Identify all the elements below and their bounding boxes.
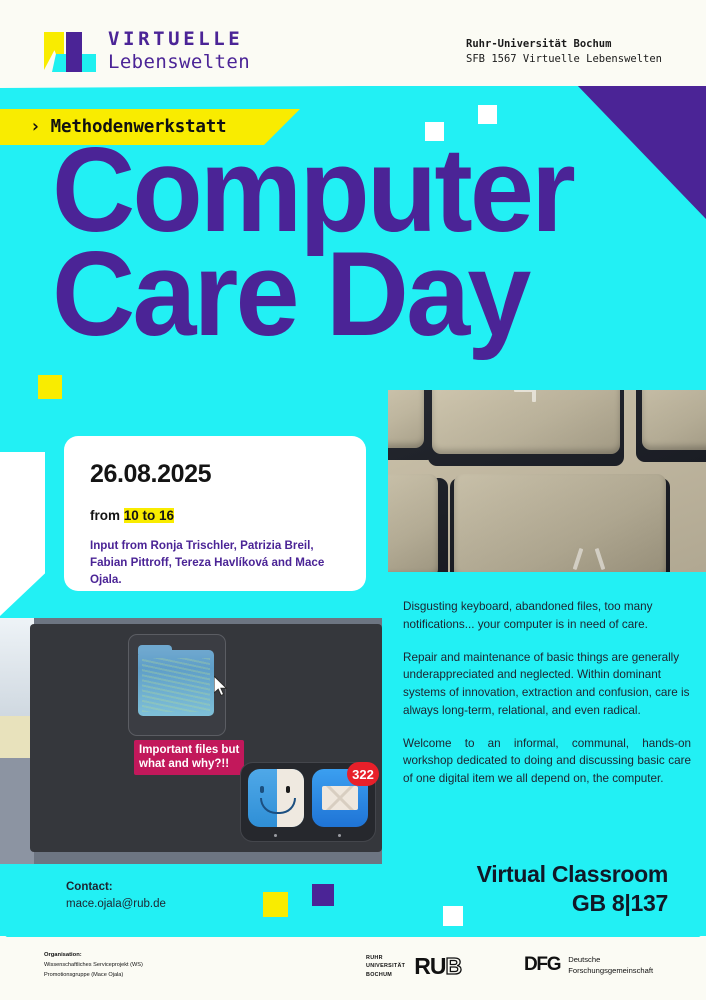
sticker-line-1: Important files but: [139, 743, 239, 757]
event-time-range: 10 to 16: [124, 508, 174, 523]
rub-wordmark-outline: B: [445, 953, 461, 979]
university-credit: Ruhr-Universität Bochum SFB 1567 Virtuel…: [466, 38, 662, 65]
poster-root: VIRTUELLE Lebenswelten Ruhr-Universität …: [0, 0, 706, 1000]
logo-cyan-block-right-icon: [82, 54, 96, 72]
description-paragraph-1: Disgusting keyboard, abandoned files, to…: [403, 598, 691, 634]
event-time: from 10 to 16: [90, 508, 342, 523]
title-line-1: Computer: [52, 142, 573, 238]
description-text: Disgusting keyboard, abandoned files, to…: [403, 598, 691, 803]
decor-yellow-square-2: [263, 892, 288, 917]
window-light-bottom: [0, 758, 34, 864]
dfg-wordmark: DFG: [524, 954, 560, 976]
organisation-label: Organisation:: [44, 951, 143, 961]
keyboard-photo-tint: [388, 390, 706, 572]
event-info-card: 26.08.2025 from 10 to 16 Input from Ronj…: [64, 436, 366, 591]
sticker-line-2: what and why?!!: [139, 757, 239, 771]
logo-line-1: VIRTUELLE: [108, 30, 250, 49]
rub-logo-small-text: RUHR UNIVERSITÄT BOCHUM: [366, 954, 405, 978]
finder-eye-left: [260, 786, 264, 793]
organisation-line-1: Wissenschaftliches Serviceprojekt (WS): [44, 961, 143, 971]
virtuelle-lebenswelten-logo: VIRTUELLE Lebenswelten: [44, 30, 250, 72]
window-light-mid: [0, 716, 34, 762]
dfg-logo-text: Deutsche Forschungsgemeinschaft: [568, 954, 653, 977]
logo-mark-icon: [44, 30, 96, 72]
event-date: 26.08.2025: [90, 460, 342, 489]
rub-small-line-2: UNIVERSITÄT: [366, 962, 405, 970]
event-time-prefix: from: [90, 508, 124, 523]
contact-email[interactable]: mace.ojala@rub.de: [66, 896, 166, 913]
finder-eye-right: [286, 786, 290, 793]
screen-photo: Important files but what and why?!! 322: [0, 618, 382, 864]
rub-small-line-3: BOCHUM: [366, 971, 405, 979]
keyboard-photo: [388, 390, 706, 572]
poster-header: VIRTUELLE Lebenswelten Ruhr-Universität …: [0, 0, 706, 86]
contact-label: Contact:: [66, 879, 166, 896]
poster-footer: Organisation: Wissenschaftliches Service…: [0, 937, 706, 1000]
logo-line-2: Lebenswelten: [108, 53, 250, 72]
organisation-block: Organisation: Wissenschaftliches Service…: [44, 951, 143, 980]
rub-wordmark-bold: RU: [414, 953, 445, 979]
dock-running-dot-1: [274, 834, 277, 837]
contact-block: Contact: mace.ojala@rub.de: [66, 879, 166, 914]
window-light-top: [0, 618, 34, 718]
decor-white-square-2: [478, 105, 497, 124]
decor-yellow-square-1: [38, 375, 62, 399]
venue-room-name: Virtual Classroom: [477, 860, 668, 889]
envelope-icon: [322, 786, 358, 810]
decor-white-square-3: [443, 906, 463, 926]
description-paragraph-3: Welcome to an informal, communal, hands-…: [403, 735, 691, 788]
finder-icon: [248, 769, 304, 827]
university-subtitle: SFB 1567 Virtuelle Lebenswelten: [466, 53, 662, 65]
decor-purple-square: [312, 884, 334, 906]
dfg-text-line-1: Deutsche: [568, 954, 653, 965]
dock-running-dot-2: [338, 834, 341, 837]
description-paragraph-2: Repair and maintenance of basic things a…: [403, 649, 691, 720]
venue-block: Virtual Classroom GB 8|137: [477, 860, 668, 919]
dfg-text-line-2: Forschungsgemeinschaft: [568, 965, 653, 976]
page-title: Computer Care Day: [52, 142, 595, 342]
mouse-cursor-icon: [214, 676, 228, 696]
mail-unread-badge: 322: [347, 762, 379, 786]
rub-wordmark: RUB: [414, 953, 461, 980]
event-speakers: Input from Ronja Trischler, Patrizia Bre…: [90, 538, 342, 588]
university-name: Ruhr-Universität Bochum: [466, 38, 662, 50]
rub-small-line-1: RUHR: [366, 954, 405, 962]
folder-texture: [142, 658, 210, 712]
title-line-2: Care Day: [52, 246, 573, 342]
rub-logo: RUHR UNIVERSITÄT BOCHUM RUB: [366, 953, 461, 980]
logo-wordmark: VIRTUELLE Lebenswelten: [108, 30, 250, 72]
sticker-note: Important files but what and why?!!: [134, 740, 244, 775]
dfg-logo: DFG Deutsche Forschungsgemeinschaft: [524, 954, 653, 977]
organisation-line-2: Promotionsgruppe (Mace Ojala): [44, 971, 143, 981]
venue-room-number: GB 8|137: [477, 889, 668, 918]
logo-purple-bar-icon: [66, 32, 82, 72]
